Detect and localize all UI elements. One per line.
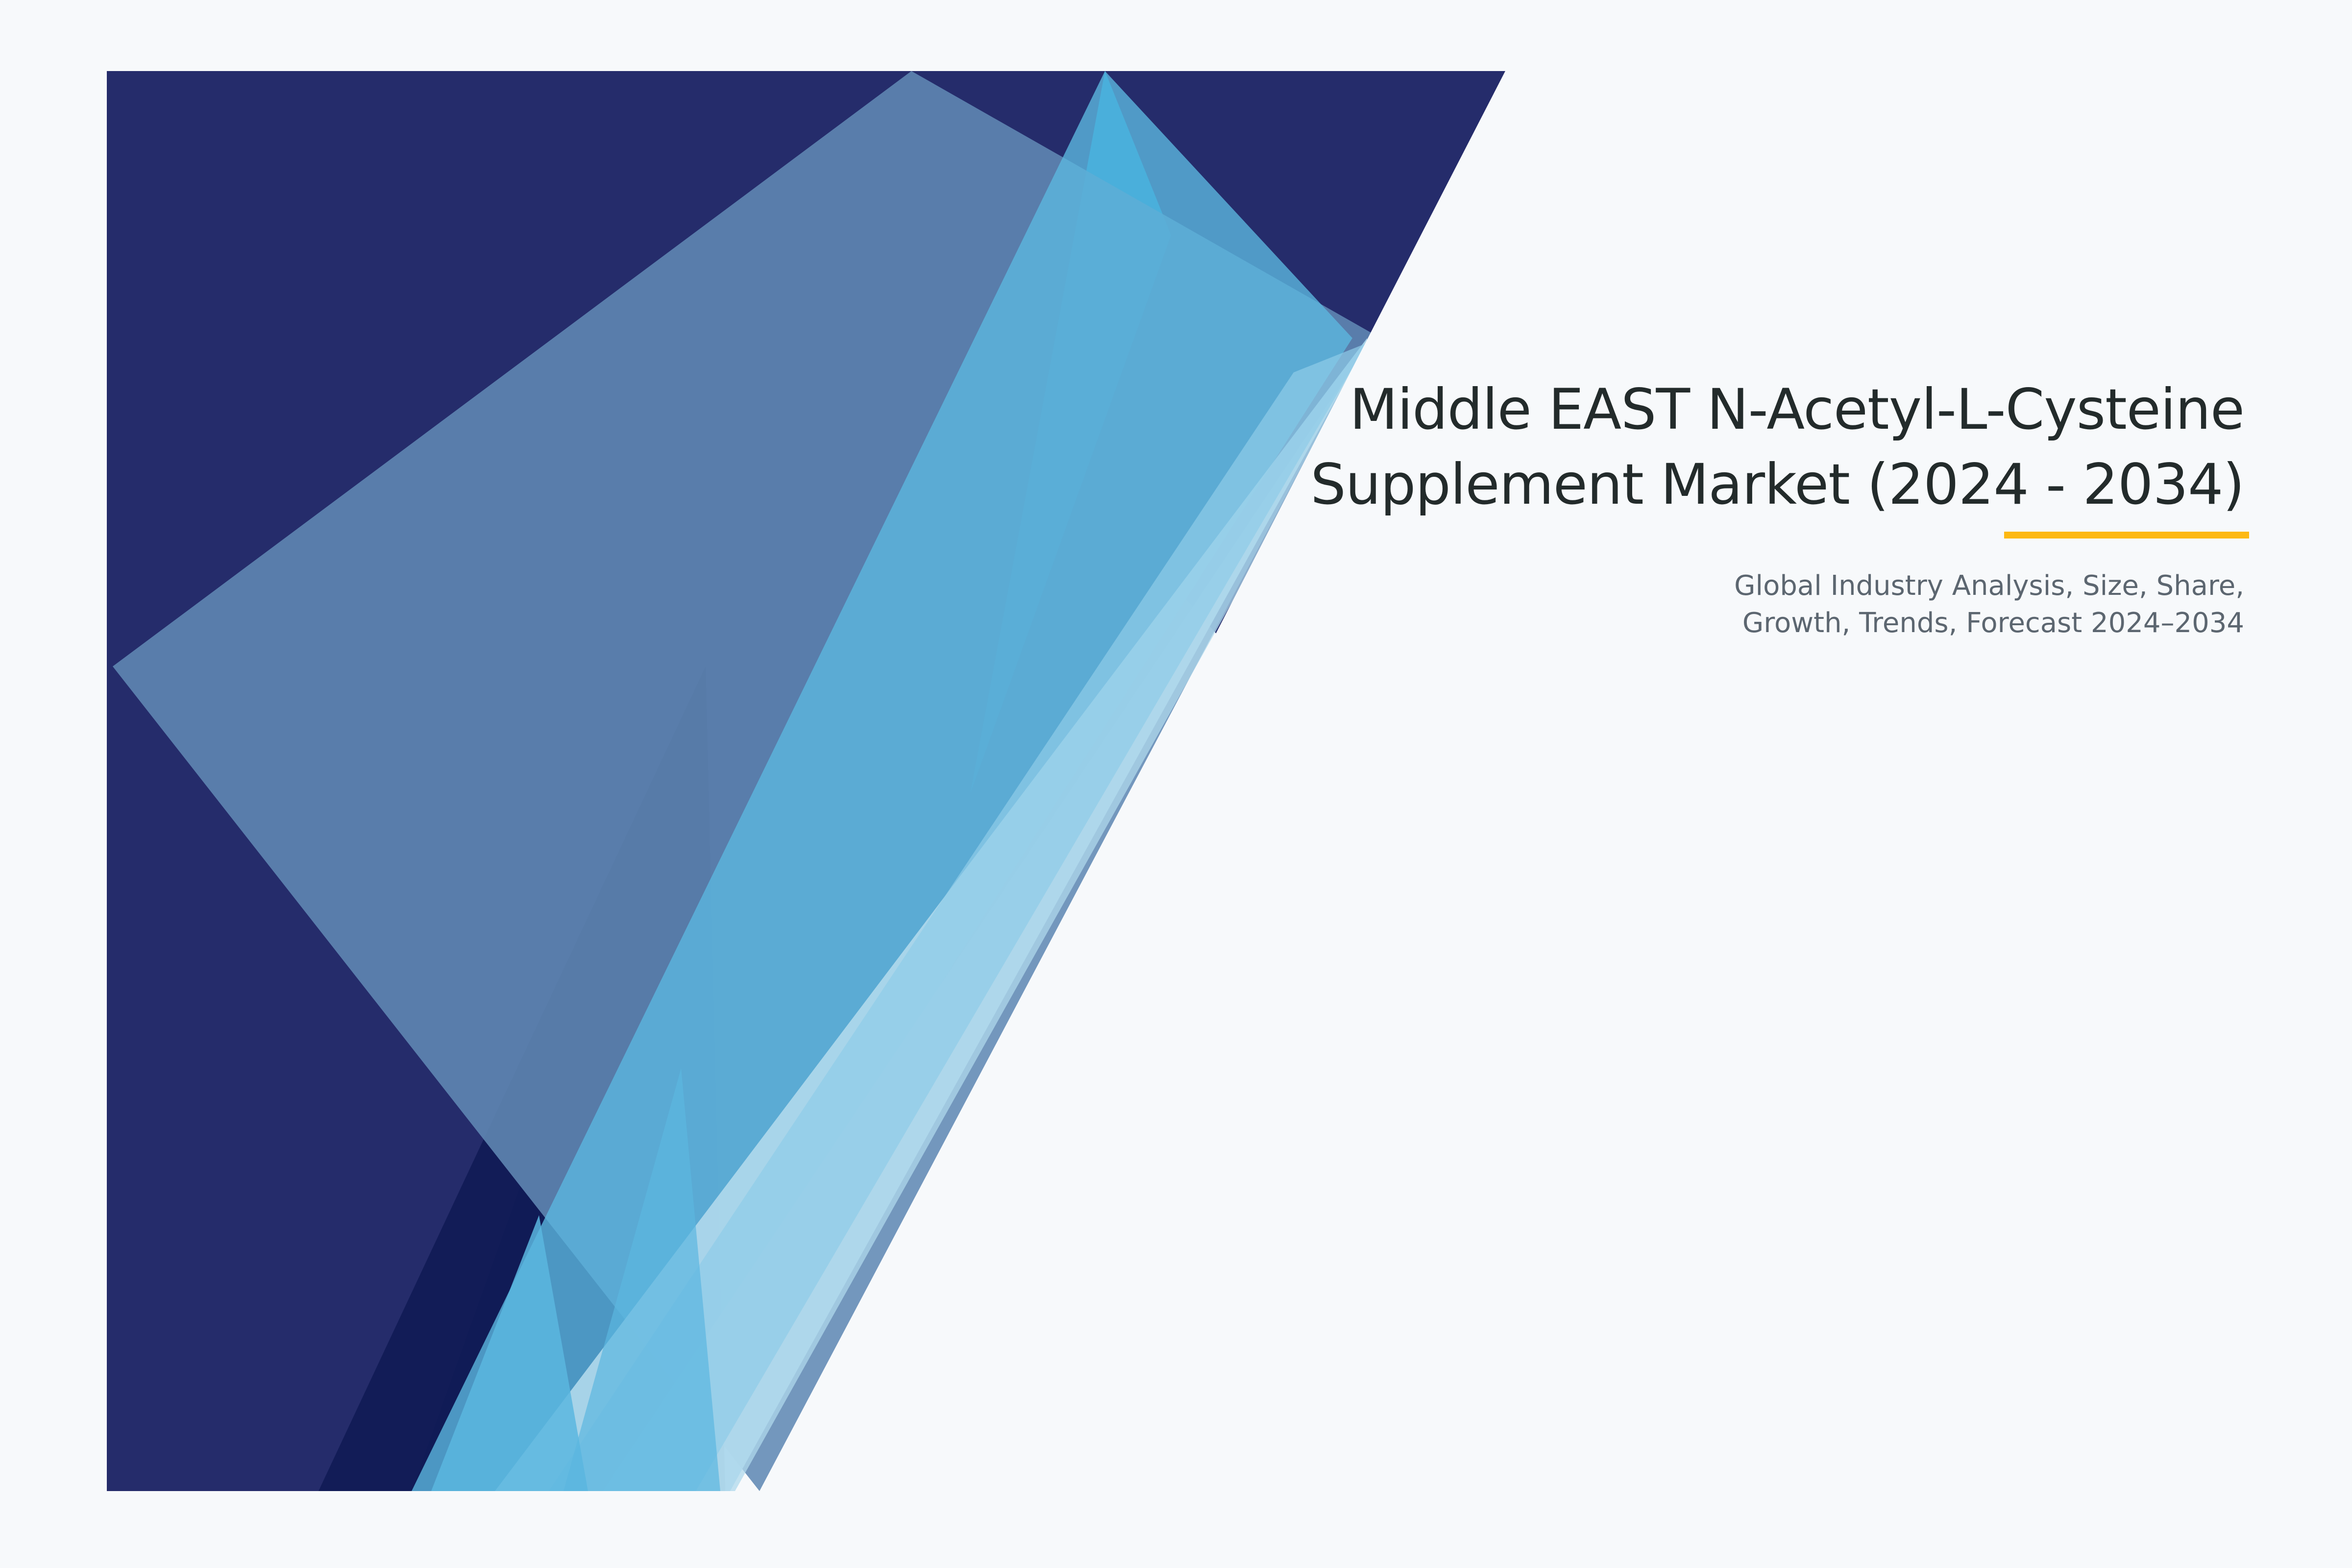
title-slide: Middle EAST N-Acetyl-L-Cysteine Suppleme… bbox=[0, 0, 2352, 1568]
shape-sky-blue-band bbox=[412, 71, 1352, 1491]
shape-steel-blue-quad bbox=[113, 71, 1372, 1491]
abstract-polygon-graphic bbox=[0, 0, 2352, 1568]
artwork-clip-top bbox=[0, 0, 2352, 71]
page-title: Middle EAST N-Acetyl-L-Cysteine Suppleme… bbox=[931, 372, 2244, 522]
artwork-clip-left bbox=[0, 0, 107, 1568]
title-wrap: Middle EAST N-Acetyl-L-Cysteine Suppleme… bbox=[931, 372, 2244, 522]
shape-deep-navy-wedge bbox=[318, 666, 725, 1491]
shape-cyan-base bbox=[107, 71, 1505, 1491]
shape-bottom-triangle-left bbox=[431, 1215, 588, 1491]
shape-navy-top bbox=[107, 71, 1505, 1491]
page-subtitle: Global Industry Analysis, Size, Share, G… bbox=[931, 522, 2244, 642]
shape-deep-navy-spike bbox=[412, 666, 725, 1491]
title-text-block: Middle EAST N-Acetyl-L-Cysteine Suppleme… bbox=[931, 372, 2244, 642]
artwork-clip-bottom bbox=[0, 1491, 2352, 1568]
shape-bottom-triangle-right bbox=[563, 1068, 720, 1491]
artwork-clip-right bbox=[735, 71, 2352, 1568]
accent-underline-bar bbox=[2004, 532, 2249, 539]
